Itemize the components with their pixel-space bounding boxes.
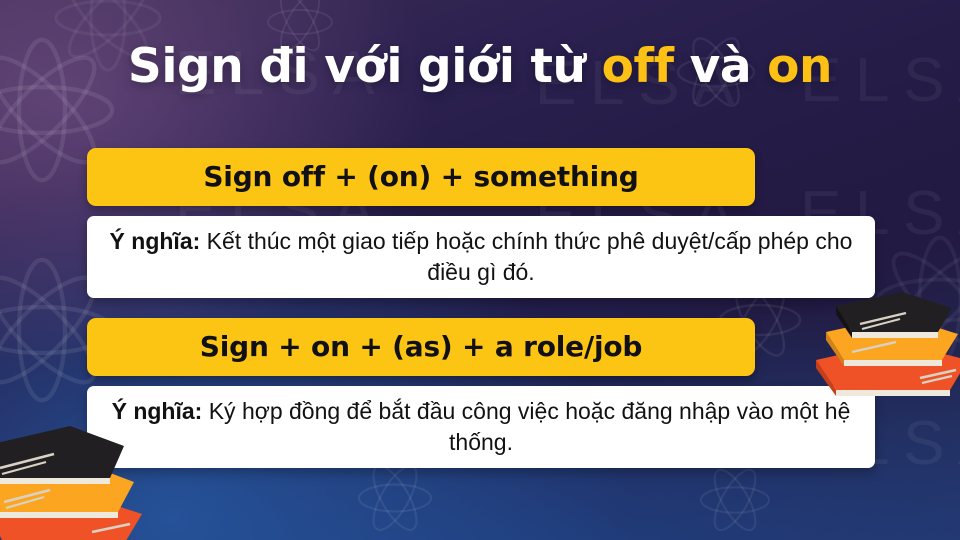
formula-banner-1: Sign off + (on) + something <box>87 148 755 206</box>
book-stack-right-illustration <box>800 286 960 402</box>
book-yellow <box>826 316 958 366</box>
page-title: Sign đi với giới từ off và on <box>0 37 960 97</box>
meaning-label-2: Ý nghĩa: <box>112 398 203 424</box>
meaning-text-2: Ký hợp đồng để bắt đầu công việc hoặc đă… <box>209 398 851 455</box>
formula-text-2: Sign + on + (as) + a role/job <box>200 331 643 363</box>
title-highlight-on: on <box>767 39 832 94</box>
meaning-card-2: Ý nghĩa: Ký hợp đồng để bắt đầu công việ… <box>87 386 875 468</box>
book-black <box>836 292 952 338</box>
book-yellow <box>0 460 134 518</box>
title-highlight-off: off <box>602 39 674 94</box>
meaning-label-1: Ý nghĩa: <box>110 228 201 254</box>
meaning-card-1: Ý nghĩa: Kết thúc một giao tiếp hoặc chí… <box>87 216 875 298</box>
meaning-paragraph-2: Ý nghĩa: Ký hợp đồng để bắt đầu công việ… <box>103 396 859 458</box>
title-prefix: Sign đi với giới từ <box>128 39 602 94</box>
meaning-paragraph-1: Ý nghĩa: Kết thúc một giao tiếp hoặc chí… <box>103 226 859 288</box>
meaning-text-1: Kết thúc một giao tiếp hoặc chính thức p… <box>207 228 853 285</box>
book-red <box>0 492 142 540</box>
formula-text-1: Sign off + (on) + something <box>203 161 638 193</box>
formula-banner-2: Sign + on + (as) + a role/job <box>87 318 755 376</box>
slide-canvas: ELSAELSAELSAELSAELSAELSAELSAELSAELSA Sig… <box>0 0 960 540</box>
title-middle: và <box>674 39 767 94</box>
